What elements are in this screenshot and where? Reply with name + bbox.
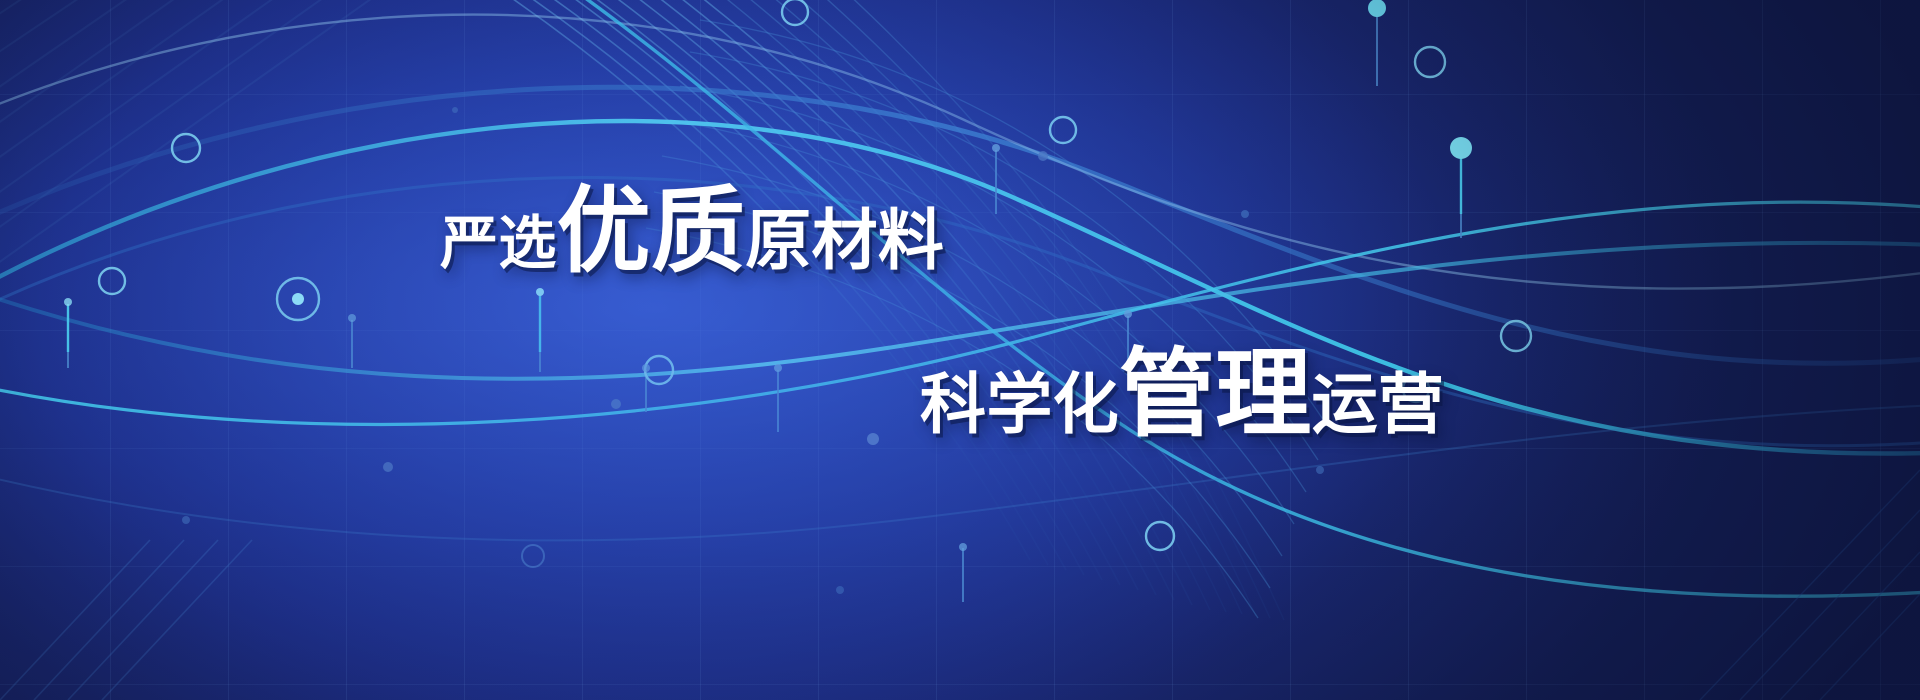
- headline-line2-segment-3: 运营: [1312, 372, 1445, 438]
- headline-line1-segment-3: 原材料: [745, 208, 944, 274]
- headline-line1-segment-1: 严选: [440, 214, 557, 272]
- headline-line2-segment-2: 管理: [1119, 346, 1312, 442]
- promotional-banner: 严选 优质 原材料 科学化 管理 运营: [0, 0, 1920, 700]
- headline-line-1: 严选 优质 原材料: [440, 185, 944, 279]
- headline-line2-segment-1: 科学化: [920, 372, 1119, 438]
- headline-text-block: 严选 优质 原材料 科学化 管理 运营: [0, 0, 1920, 700]
- headline-line-2: 科学化 管理 运营: [920, 346, 1444, 442]
- headline-line1-segment-2: 优质: [557, 185, 746, 279]
